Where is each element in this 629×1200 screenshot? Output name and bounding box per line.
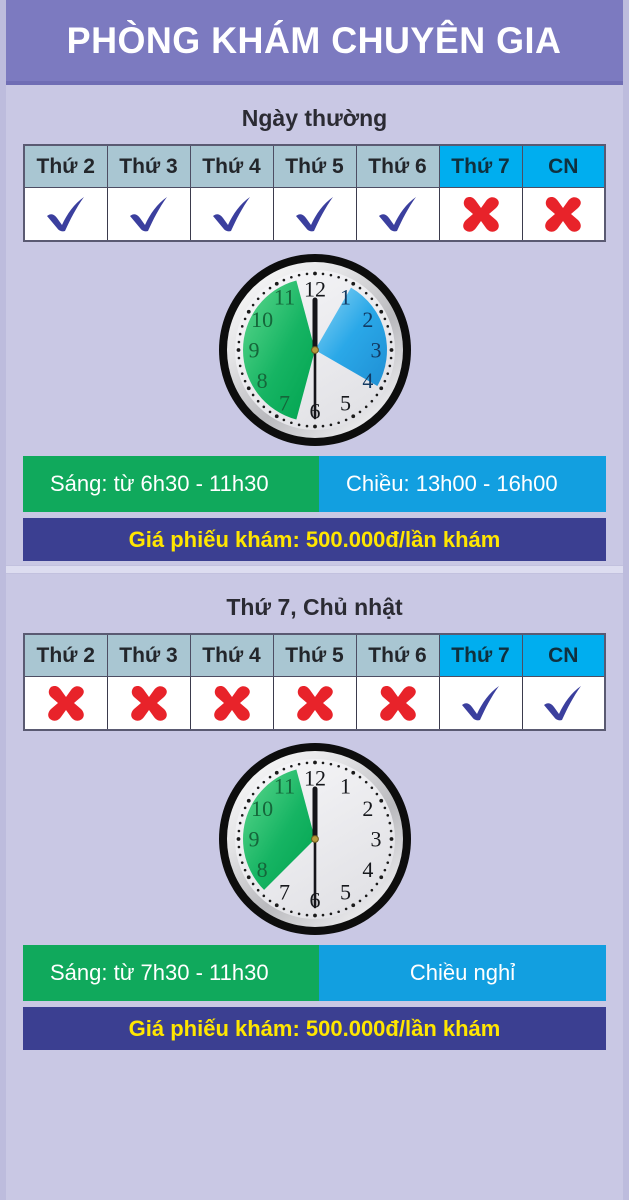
- check-icon: [292, 194, 338, 234]
- section-title: Thứ 7, Chủ nhật: [6, 594, 623, 621]
- sections-container: Ngày thườngThứ 2Thứ 3Thứ 4Thứ 5Thứ 6Thứ …: [6, 85, 623, 1050]
- check-icon: [458, 683, 504, 723]
- weekday-availability-table: Thứ 2Thứ 3Thứ 4Thứ 5Thứ 6Thứ 7CN: [23, 144, 606, 242]
- day-header-2: Thứ 3: [107, 634, 190, 677]
- schedule-section-2: Thứ 7, Chủ nhậtThứ 2Thứ 3Thứ 4Thứ 5Thứ 6…: [6, 574, 623, 1050]
- clock-numeral: 7: [279, 879, 290, 904]
- availability-cell-7: [522, 188, 605, 242]
- day-header-7: CN: [522, 634, 605, 677]
- availability-cell-1: [24, 677, 107, 731]
- availability-cell-2: [107, 677, 190, 731]
- price-bar: Giá phiếu khám: 500.000đ/lần khám: [23, 1007, 606, 1050]
- clock-numeral: 8: [256, 368, 267, 393]
- availability-cell-4: [273, 188, 356, 242]
- clock-numeral: 7: [279, 390, 290, 415]
- table-header-row: Thứ 2Thứ 3Thứ 4Thứ 5Thứ 6Thứ 7CN: [24, 634, 605, 677]
- section-title: Ngày thường: [6, 105, 623, 132]
- availability-cell-6: [439, 677, 522, 731]
- check-icon: [126, 194, 172, 234]
- clock-numeral: 1: [340, 285, 351, 310]
- clock-numeral: 10: [251, 796, 273, 821]
- clock-numeral: 11: [273, 285, 294, 310]
- clock-numeral: 5: [340, 879, 351, 904]
- availability-cell-4: [273, 677, 356, 731]
- availability-cell-3: [190, 677, 273, 731]
- day-header-3: Thứ 4: [190, 634, 273, 677]
- availability-cell-7: [522, 677, 605, 731]
- availability-cell-6: [439, 188, 522, 242]
- cross-icon: [128, 683, 170, 723]
- clock-center-cap: [311, 836, 318, 843]
- clock-numeral: 1: [340, 774, 351, 799]
- day-header-2: Thứ 3: [107, 145, 190, 188]
- cross-icon: [460, 194, 502, 234]
- infographic-page: PHÒNG KHÁM CHUYÊN GIA Ngày thườngThứ 2Th…: [0, 0, 629, 1200]
- day-header-1: Thứ 2: [24, 634, 107, 677]
- day-header-1: Thứ 2: [24, 145, 107, 188]
- clock-numeral: 4: [362, 368, 373, 393]
- day-header-6: Thứ 7: [439, 634, 522, 677]
- clock-numeral: 2: [362, 796, 373, 821]
- check-icon: [43, 194, 89, 234]
- clock-numeral: 9: [248, 338, 259, 363]
- clock-numeral: 9: [248, 827, 259, 852]
- check-icon: [540, 683, 586, 723]
- time-bar-row: Sáng: từ 7h30 - 11h30Chiều nghỉ: [23, 945, 606, 1001]
- clock-weekday: 121234567891011: [215, 250, 415, 450]
- price-bar: Giá phiếu khám: 500.000đ/lần khám: [23, 518, 606, 561]
- morning-hours-bar: Sáng: từ 7h30 - 11h30: [23, 945, 319, 1001]
- day-header-4: Thứ 5: [273, 634, 356, 677]
- availability-cell-1: [24, 188, 107, 242]
- cross-icon: [377, 683, 419, 723]
- table-row: [24, 188, 605, 242]
- cross-icon: [211, 683, 253, 723]
- day-header-4: Thứ 5: [273, 145, 356, 188]
- table-row: [24, 677, 605, 731]
- availability-cell-5: [356, 677, 439, 731]
- day-header-6: Thứ 7: [439, 145, 522, 188]
- clock-numeral: 10: [251, 307, 273, 332]
- time-bars: Sáng: từ 7h30 - 11h30Chiều nghỉGiá phiếu…: [23, 945, 606, 1050]
- check-icon: [209, 194, 255, 234]
- clock-numeral: 2: [362, 307, 373, 332]
- clock-numeral: 11: [273, 774, 294, 799]
- morning-hours-bar: Sáng: từ 6h30 - 11h30: [23, 456, 319, 512]
- time-bar-row: Sáng: từ 6h30 - 11h30Chiều: 13h00 - 16h0…: [23, 456, 606, 512]
- cross-icon: [45, 683, 87, 723]
- availability-cell-3: [190, 188, 273, 242]
- cross-icon: [294, 683, 336, 723]
- availability-cell-5: [356, 188, 439, 242]
- day-header-7: CN: [522, 145, 605, 188]
- day-header-5: Thứ 6: [356, 634, 439, 677]
- clock-numeral: 5: [340, 390, 351, 415]
- table-header-row: Thứ 2Thứ 3Thứ 4Thứ 5Thứ 6Thứ 7CN: [24, 145, 605, 188]
- cross-icon: [542, 194, 584, 234]
- clock-weekend: 121234567891011: [215, 739, 415, 939]
- schedule-section-1: Ngày thườngThứ 2Thứ 3Thứ 4Thứ 5Thứ 6Thứ …: [6, 85, 623, 561]
- clock-numeral: 4: [362, 857, 373, 882]
- availability-cell-2: [107, 188, 190, 242]
- clock-container: 121234567891011: [6, 739, 623, 939]
- afternoon-hours-bar: Chiều nghỉ: [319, 945, 606, 1001]
- clock-container: 121234567891011: [6, 250, 623, 450]
- day-header-5: Thứ 6: [356, 145, 439, 188]
- afternoon-hours-bar: Chiều: 13h00 - 16h00: [319, 456, 606, 512]
- weekday-availability-table: Thứ 2Thứ 3Thứ 4Thứ 5Thứ 6Thứ 7CN: [23, 633, 606, 731]
- check-icon: [375, 194, 421, 234]
- clock-numeral: 8: [256, 857, 267, 882]
- clock-numeral: 3: [370, 338, 381, 363]
- section-divider: [6, 565, 623, 574]
- time-bars: Sáng: từ 6h30 - 11h30Chiều: 13h00 - 16h0…: [23, 456, 606, 561]
- page-title: PHÒNG KHÁM CHUYÊN GIA: [67, 20, 562, 62]
- day-header-3: Thứ 4: [190, 145, 273, 188]
- page-header: PHÒNG KHÁM CHUYÊN GIA: [6, 0, 623, 85]
- clock-center-cap: [311, 347, 318, 354]
- clock-numeral: 3: [370, 827, 381, 852]
